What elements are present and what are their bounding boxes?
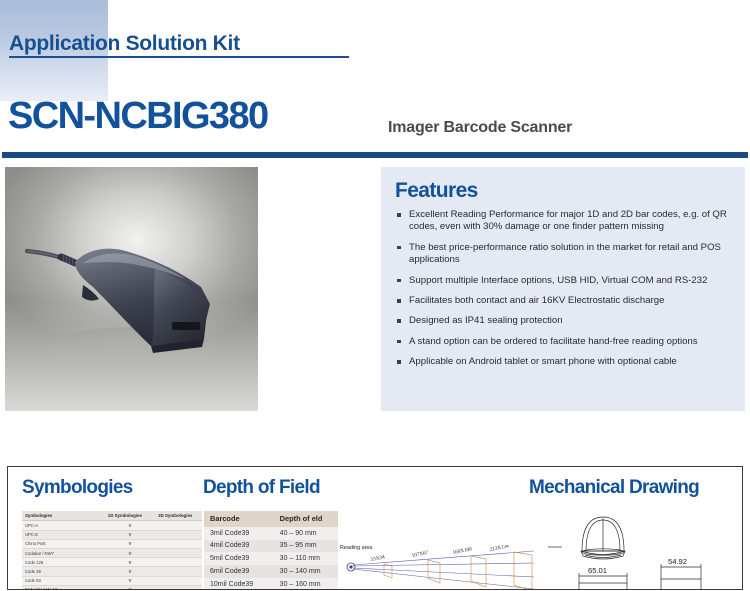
table-row: 3mil Code39 40 – 90 mm [204, 527, 338, 540]
table-row: UPC-A V [22, 521, 202, 530]
symbology-1d: V [105, 530, 155, 539]
reading-area-diagram: Reading area [338, 545, 538, 590]
mechanical-drawing-title: Mechanical Drawing [529, 477, 699, 499]
table-row: Code 128 V [22, 558, 202, 567]
symbology-1d: V [105, 539, 155, 548]
col-1d: 1D Symbologies [105, 511, 155, 521]
table-row: Code 39 V [22, 567, 202, 576]
product-model-title: SCN-NCBIG380 [8, 95, 268, 137]
table-row: 5mil Code39 30 – 110 mm [204, 552, 338, 565]
table-row: Code 93 V [22, 576, 202, 585]
dim-width-label: 65.01 [588, 566, 607, 575]
depth-of-field-title: Depth of Field [203, 477, 320, 499]
symbology-name: China Post [22, 539, 105, 548]
header-divider-rule [2, 152, 748, 158]
specs-panel: Symbologies Depth of Field Mechanical Dr… [7, 466, 743, 590]
dof-depth: 30 – 160 mm [274, 578, 338, 590]
symbology-2d [155, 548, 202, 557]
dof-barcode: 3mil Code39 [204, 527, 274, 540]
symbology-name: Code 93 [22, 576, 105, 585]
product-subtitle: Imager Barcode Scanner [388, 119, 572, 137]
symbology-2d [155, 585, 202, 590]
feature-item: A stand option can be ordered to facilit… [395, 336, 729, 348]
application-solution-kit-label: Application Solution Kit [9, 32, 240, 56]
features-title: Features [395, 179, 729, 203]
feature-item: Facilitates both contact and air 16KV El… [395, 295, 729, 307]
reading-dim-1: 53X34 [370, 554, 385, 563]
symbology-1d: V [105, 558, 155, 567]
symbology-1d: V [105, 585, 155, 590]
dof-barcode: 5mil Code39 [204, 552, 274, 565]
table-row: Codabar / NW7 V [22, 548, 202, 557]
feature-item: Support multiple Interface options, USB … [395, 275, 729, 287]
col-depth: Depth of eld [274, 511, 338, 527]
col-2d: 2D Symbologies [155, 511, 202, 521]
table-row: EAN-13 / JAN-13 V [22, 585, 202, 590]
table-row: 10mil Code39 30 – 160 mm [204, 578, 338, 590]
symbology-name: EAN-13 / JAN-13 [22, 585, 105, 590]
symbology-2d [155, 530, 202, 539]
symbology-2d [155, 539, 202, 548]
symbology-2d [155, 558, 202, 567]
depth-of-field-table: Barcode Depth of eld 3mil Code39 40 – 90… [204, 511, 338, 590]
scanner-illustration [5, 167, 258, 411]
symbology-name: Codabar / NW7 [22, 548, 105, 557]
table-row: 4mil Code39 35 – 95 mm [204, 540, 338, 553]
symbology-2d [155, 521, 202, 530]
table-row: UPC-E V [22, 530, 202, 539]
kit-underline [9, 56, 349, 58]
feature-item: Designed as IP41 sealing protection [395, 315, 729, 327]
feature-item: The best price-performance ratio solutio… [395, 242, 729, 267]
features-panel: Features Excellent Reading Performance f… [381, 167, 745, 411]
table-row: 6mil Code39 30 – 140 mm [204, 565, 338, 578]
symbologies-table: Symbologies 1D Symbologies 2D Symbologie… [22, 511, 202, 590]
dof-depth: 30 – 140 mm [274, 565, 338, 578]
dof-barcode: 10mil Code39 [204, 578, 274, 590]
col-symbologies: Symbologies [22, 511, 105, 521]
dim-depth-label: 54.92 [668, 557, 687, 566]
symbologies-title: Symbologies [22, 477, 133, 499]
reading-dim-4: 213X134 [489, 545, 509, 553]
mechanical-drawing-graphic: 65.01 54.92 [548, 511, 743, 590]
reading-dim-3: 160X100 [452, 546, 472, 556]
dof-barcode: 6mil Code39 [204, 565, 274, 578]
reading-area-label: Reading area [340, 545, 372, 551]
dof-depth: 30 – 110 mm [274, 552, 338, 565]
datasheet-page: Application Solution Kit SCN-NCBIG380 Im… [0, 0, 750, 591]
features-list: Excellent Reading Performance for major … [395, 209, 729, 369]
dof-depth: 40 – 90 mm [274, 527, 338, 540]
symbology-1d: V [105, 576, 155, 585]
dof-barcode: 4mil Code39 [204, 540, 274, 553]
symbology-2d [155, 567, 202, 576]
symbology-name: UPC-A [22, 521, 105, 530]
feature-item: Applicable on Android tablet or smart ph… [395, 356, 729, 368]
product-photo [5, 167, 258, 411]
table-row: China Post V [22, 539, 202, 548]
reading-dim-2: 107X67 [411, 550, 429, 559]
dof-depth: 35 – 95 mm [274, 540, 338, 553]
table-header-row: Barcode Depth of eld [204, 511, 338, 527]
symbology-name: UPC-E [22, 530, 105, 539]
feature-item: Excellent Reading Performance for major … [395, 209, 729, 234]
table-header-row: Symbologies 1D Symbologies 2D Symbologie… [22, 511, 202, 521]
symbology-1d: V [105, 548, 155, 557]
symbology-name: Code 39 [22, 567, 105, 576]
symbology-1d: V [105, 567, 155, 576]
symbology-2d [155, 576, 202, 585]
col-barcode: Barcode [204, 511, 274, 527]
reading-area-graphic: 53X34 107X67 160X100 213X134 [338, 545, 538, 590]
symbology-name: Code 128 [22, 558, 105, 567]
symbology-1d: V [105, 521, 155, 530]
